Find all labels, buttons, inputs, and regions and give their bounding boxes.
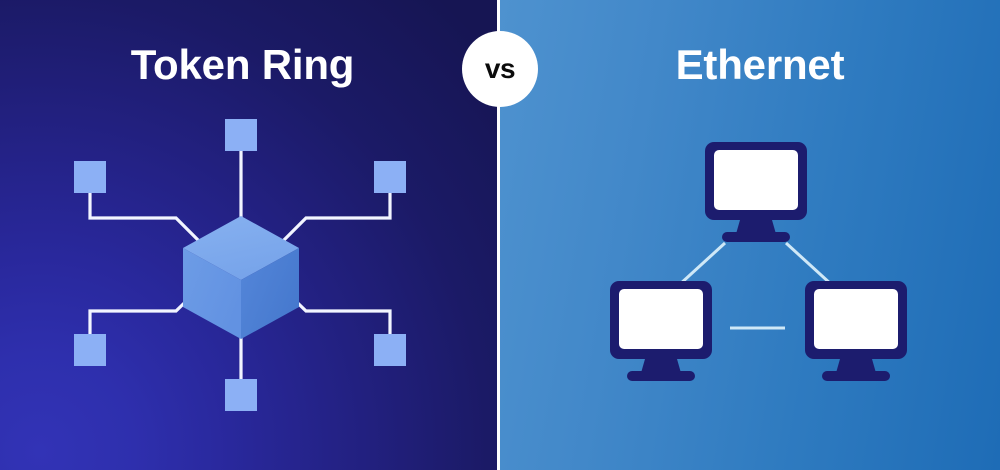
node-bottom-right: [374, 334, 406, 366]
monitor-bottom-left-screen: [619, 289, 703, 349]
monitor-bottom-left: [610, 281, 712, 381]
node-bottom-left: [74, 334, 106, 366]
monitor-bottom-left-neck: [641, 359, 681, 373]
link-top-right: [275, 193, 390, 249]
versus-badge: vs: [462, 31, 538, 107]
node-bottom: [225, 379, 257, 411]
token-ring-title: Token Ring: [0, 44, 491, 86]
monitor-top: [705, 142, 807, 242]
versus-label: vs: [485, 55, 515, 83]
monitor-top-base: [722, 232, 790, 242]
hub-cube-icon: [183, 216, 299, 339]
link-top-left: [90, 193, 207, 249]
node-top-right: [374, 161, 406, 193]
monitor-bottom-right-neck: [836, 359, 876, 373]
monitor-bottom-left-base: [627, 371, 695, 381]
monitor-bottom-right-screen: [814, 289, 898, 349]
node-top-left: [74, 161, 106, 193]
monitor-bottom-right: [805, 281, 907, 381]
monitor-top-neck: [736, 220, 776, 234]
monitor-bottom-right-base: [822, 371, 890, 381]
comparison-graphic: Token Ring Ethernet vs: [0, 0, 1000, 470]
ethernet-title: Ethernet: [510, 44, 1000, 86]
node-top: [225, 119, 257, 151]
monitor-top-screen: [714, 150, 798, 210]
